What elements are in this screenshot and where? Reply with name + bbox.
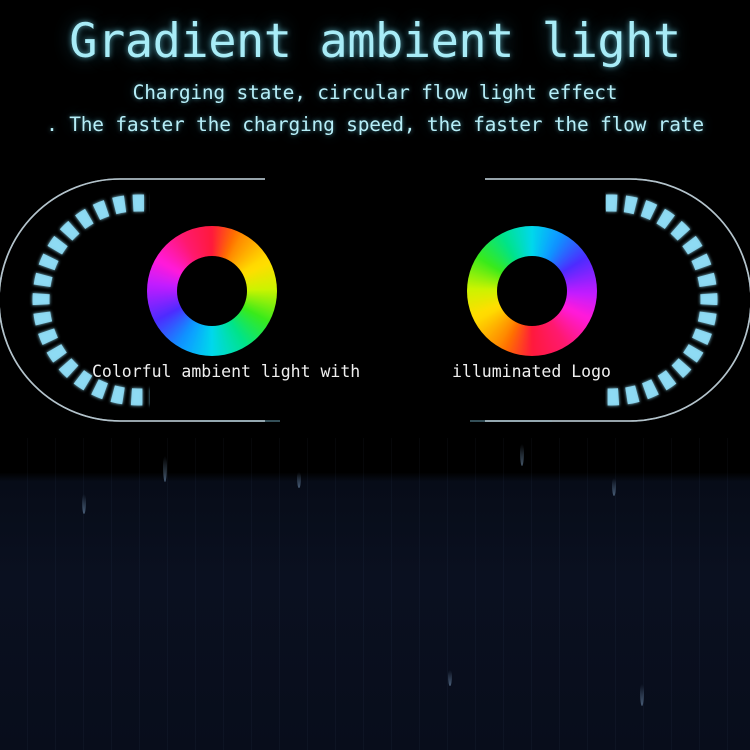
lower-scene: TRAN SPARE NT CYBERPUNK STYLE TRANSPAREN…	[0, 438, 750, 750]
subtitle-line-1: Charging state, circular flow light effe…	[0, 66, 750, 104]
rgb-color-wheel-right	[467, 226, 597, 356]
subtitle-line-2: . The faster the charging speed, the fas…	[0, 104, 750, 136]
background-vertical-lines	[0, 438, 750, 750]
header-section: Gradient ambient light Charging state, c…	[0, 0, 750, 170]
page-title: Gradient ambient light	[0, 0, 750, 66]
panel-outline-graphic	[0, 170, 750, 438]
product-infographic: Gradient ambient light Charging state, c…	[0, 0, 750, 750]
rgb-color-wheel-left	[147, 226, 277, 356]
feature-panel	[0, 170, 750, 438]
feature-caption-right: illuminated Logo	[452, 362, 611, 381]
feature-caption-left: Colorful ambient light with	[92, 362, 360, 381]
